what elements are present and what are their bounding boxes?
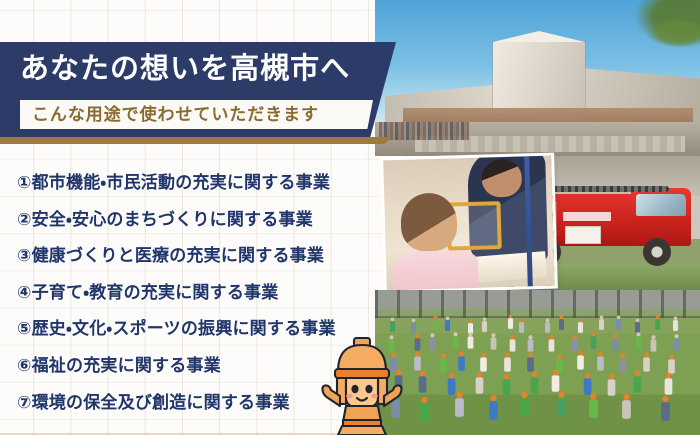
child-figure [643, 357, 650, 371]
child-figure [635, 322, 640, 333]
child-figure [433, 319, 438, 330]
photo-collage [375, 0, 700, 435]
child-figure [414, 338, 420, 350]
child-figure [504, 357, 511, 371]
child-figure [455, 399, 464, 418]
child-figure [411, 322, 416, 333]
child-figure [669, 359, 676, 373]
child-figure [447, 378, 455, 395]
child-figure [430, 338, 436, 350]
child-figure [612, 338, 618, 350]
child-figure [508, 318, 513, 329]
child-figure [453, 337, 459, 349]
page-title: あなたの想いを高槻市へ [20, 47, 370, 91]
takatsuki-donation-purpose-banner: あなたの想いを高槻市へ こんな用途で使わせていただきます ①都市機能・市民活動の… [0, 0, 700, 435]
child-figure [419, 376, 427, 393]
child-figure [552, 376, 560, 393]
fire-engine-unit-text [563, 212, 611, 221]
child-head [400, 192, 458, 252]
child-figure [557, 398, 566, 417]
child-figure [584, 378, 592, 395]
child-figure [482, 321, 487, 332]
child-figure [655, 319, 660, 330]
child-figure [530, 377, 538, 394]
child-figure [445, 320, 450, 331]
child-figure [635, 337, 641, 349]
list-item: ②安全・安心のまちづくりに関する事業 [17, 202, 407, 239]
child-figure [673, 320, 678, 331]
list-item: ③健康づくりと医療の充実に関する事業 [17, 238, 407, 275]
children-group [375, 312, 700, 435]
child-figure [616, 320, 621, 331]
child-figure [545, 322, 550, 333]
fire-engine-windshield [636, 194, 686, 216]
child-figure [441, 359, 448, 373]
child-figure [571, 339, 577, 351]
child-figure [414, 356, 421, 370]
child-figure [491, 337, 497, 349]
child-figure [608, 379, 616, 396]
child-figure [458, 356, 465, 370]
child-figure [599, 319, 604, 330]
child-figure [634, 376, 642, 393]
fire-engine-plate [565, 226, 601, 244]
child-figure [490, 402, 499, 421]
children-exercise-photo [375, 290, 700, 435]
child-figure [559, 319, 564, 330]
child-figure [591, 336, 597, 348]
child-figure [468, 337, 474, 349]
child-figure [651, 339, 657, 351]
list-item: ④子育て・教育の充実に関する事業 [17, 275, 407, 312]
child-figure [598, 356, 605, 370]
list-item: ①都市機能・市民活動の充実に関する事業 [17, 165, 407, 202]
haniwa-mascot-icon [318, 336, 406, 435]
child-figure [674, 338, 680, 350]
gold-accent-rule [0, 137, 392, 144]
child-figure [619, 359, 626, 373]
child-figure [519, 322, 524, 333]
child-figure [528, 340, 534, 352]
civic-hall-photo [375, 0, 700, 156]
tree-foliage [628, 0, 700, 52]
child-figure [577, 355, 584, 369]
child-figure [661, 402, 670, 421]
child-figure [664, 378, 672, 395]
hall-main-tower [493, 42, 585, 114]
teacher-head [481, 159, 522, 198]
child-figure [549, 339, 555, 351]
subheadline-text: こんな用途で使わせていただきます [32, 100, 319, 129]
child-figure [589, 399, 598, 418]
child-figure [578, 322, 583, 333]
child-figure [420, 403, 429, 422]
fire-engine-front-wheel [643, 238, 671, 266]
child-figure [481, 358, 488, 372]
child-figure [510, 340, 516, 352]
child-figure [527, 357, 534, 371]
child-figure [476, 378, 484, 395]
child-figure [622, 400, 631, 419]
classroom-photo [383, 156, 555, 291]
child-figure [502, 379, 510, 396]
hall-visitors [379, 122, 469, 140]
child-figure [520, 398, 529, 417]
